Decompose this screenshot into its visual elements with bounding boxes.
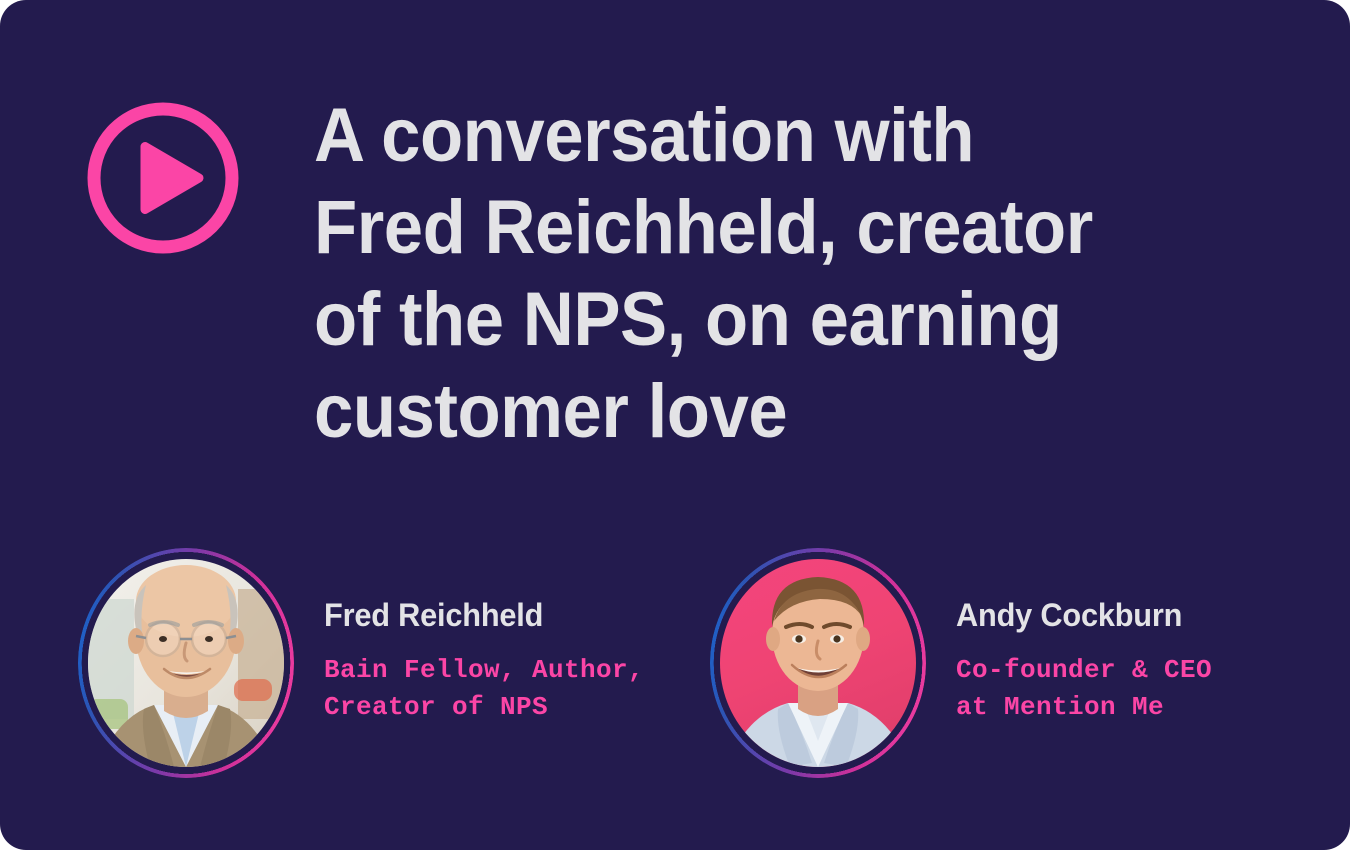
webinar-promo-card: A conversation with Fred Reichheld, crea…	[0, 0, 1350, 850]
avatar-andy-cockburn	[710, 548, 926, 778]
play-button[interactable]	[87, 102, 239, 254]
headline-line-4: customer love	[314, 366, 1151, 458]
speaker-text: Fred Reichheld Bain Fellow, Author, Crea…	[324, 597, 644, 730]
avatar-photo	[88, 559, 284, 767]
speaker-text: Andy Cockburn Co-founder & CEO at Mentio…	[956, 597, 1212, 730]
speaker-name: Fred Reichheld	[324, 597, 631, 633]
speaker-role-line-1: Co-founder & CEO	[956, 652, 1212, 689]
speaker-name: Andy Cockburn	[956, 597, 1202, 633]
headline-line-3: of the NPS, on earning	[314, 274, 1151, 366]
headline-line-1: A conversation with	[314, 90, 1151, 182]
speaker-role-line-2: Creator of NPS	[324, 689, 644, 726]
avatar-fred-reichheld	[78, 548, 294, 778]
play-circle-icon	[87, 102, 239, 254]
speaker-role: Bain Fellow, Author, Creator of NPS	[324, 652, 644, 726]
headline-line-2: Fred Reichheld, creator	[314, 182, 1151, 274]
speaker-role-line-1: Bain Fellow, Author,	[324, 652, 644, 689]
speaker-role-line-2: at Mention Me	[956, 689, 1212, 726]
page-title: A conversation with Fred Reichheld, crea…	[314, 90, 1151, 458]
speaker-list: Fred Reichheld Bain Fellow, Author, Crea…	[78, 548, 1278, 778]
avatar-photo	[720, 559, 916, 767]
speaker-role: Co-founder & CEO at Mention Me	[956, 652, 1212, 726]
speaker-card-andy-cockburn: Andy Cockburn Co-founder & CEO at Mentio…	[710, 548, 1212, 778]
speaker-card-fred-reichheld: Fred Reichheld Bain Fellow, Author, Crea…	[78, 548, 644, 778]
